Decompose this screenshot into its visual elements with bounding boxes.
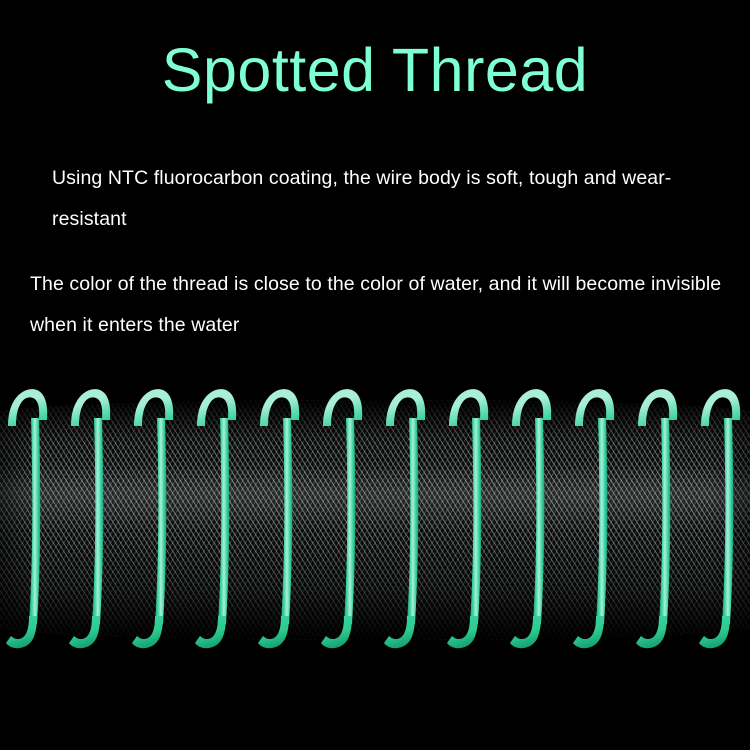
product-banner: Spotted Thread Using NTC fluorocarbon co… (0, 0, 750, 750)
carbon-fiber-rod (0, 400, 750, 640)
description-block: Using NTC fluorocarbon coating, the wire… (0, 158, 750, 346)
description-paragraph-1: Using NTC fluorocarbon coating, the wire… (0, 158, 750, 240)
rod-edge-vignette (0, 400, 750, 640)
description-paragraph-2: The color of the thread is close to the … (0, 264, 750, 346)
page-title: Spotted Thread (0, 40, 750, 101)
product-photo (0, 380, 750, 655)
